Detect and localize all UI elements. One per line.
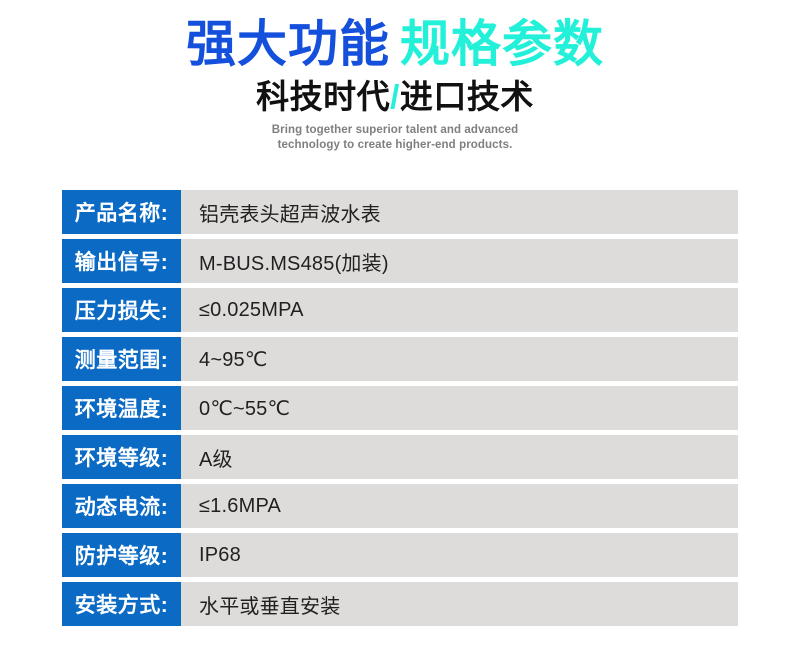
table-row: 安装方式: 水平或垂直安装 (62, 582, 738, 626)
table-row: 输出信号: M-BUS.MS485(加装) (62, 239, 738, 283)
spec-label: 环境温度: (62, 386, 181, 430)
table-row: 环境等级: A级 (62, 435, 738, 479)
table-row: 测量范围: 4~95℃ (62, 337, 738, 381)
table-row: 环境温度: 0℃~55℃ (62, 386, 738, 430)
spec-label: 安装方式: (62, 582, 181, 626)
spec-label: 测量范围: (62, 337, 181, 381)
sub-title-left: 科技时代 (256, 78, 390, 115)
spec-value: IP68 (181, 533, 738, 577)
spec-label: 输出信号: (62, 239, 181, 283)
spec-value: M-BUS.MS485(加装) (181, 239, 738, 283)
specification-table: 产品名称: 铝壳表头超声波水表 输出信号: M-BUS.MS485(加装) 压力… (62, 190, 738, 626)
sub-title-slash: / (390, 78, 400, 115)
spec-label: 产品名称: (62, 190, 181, 234)
spec-label: 环境等级: (62, 435, 181, 479)
main-title: 强大功能规格参数 (0, 16, 790, 72)
spec-value: A级 (181, 435, 738, 479)
main-title-accent: 规格参数 (400, 16, 604, 72)
main-title-primary: 强大功能 (186, 16, 390, 72)
spec-value: ≤0.025MPA (181, 288, 738, 332)
spec-value: 铝壳表头超声波水表 (181, 190, 738, 234)
table-row: 压力损失: ≤0.025MPA (62, 288, 738, 332)
spec-label: 动态电流: (62, 484, 181, 528)
spec-label: 防护等级: (62, 533, 181, 577)
table-row: 动态电流: ≤1.6MPA (62, 484, 738, 528)
spec-value: 0℃~55℃ (181, 386, 738, 430)
english-tagline: Bring together superior talent and advan… (0, 123, 790, 152)
table-row: 产品名称: 铝壳表头超声波水表 (62, 190, 738, 234)
table-row: 防护等级: IP68 (62, 533, 738, 577)
english-tagline-line-1: Bring together superior talent and advan… (0, 123, 790, 138)
spec-sheet-page: 强大功能规格参数 科技时代/进口技术 Bring together superi… (0, 0, 790, 650)
spec-label: 压力损失: (62, 288, 181, 332)
page-header: 强大功能规格参数 科技时代/进口技术 Bring together superi… (0, 0, 790, 152)
spec-value: 水平或垂直安装 (181, 582, 738, 626)
spec-value: 4~95℃ (181, 337, 738, 381)
english-tagline-line-2: technology to create higher-end products… (0, 138, 790, 153)
spec-value: ≤1.6MPA (181, 484, 738, 528)
sub-title: 科技时代/进口技术 (0, 78, 790, 116)
sub-title-right: 进口技术 (400, 78, 534, 115)
